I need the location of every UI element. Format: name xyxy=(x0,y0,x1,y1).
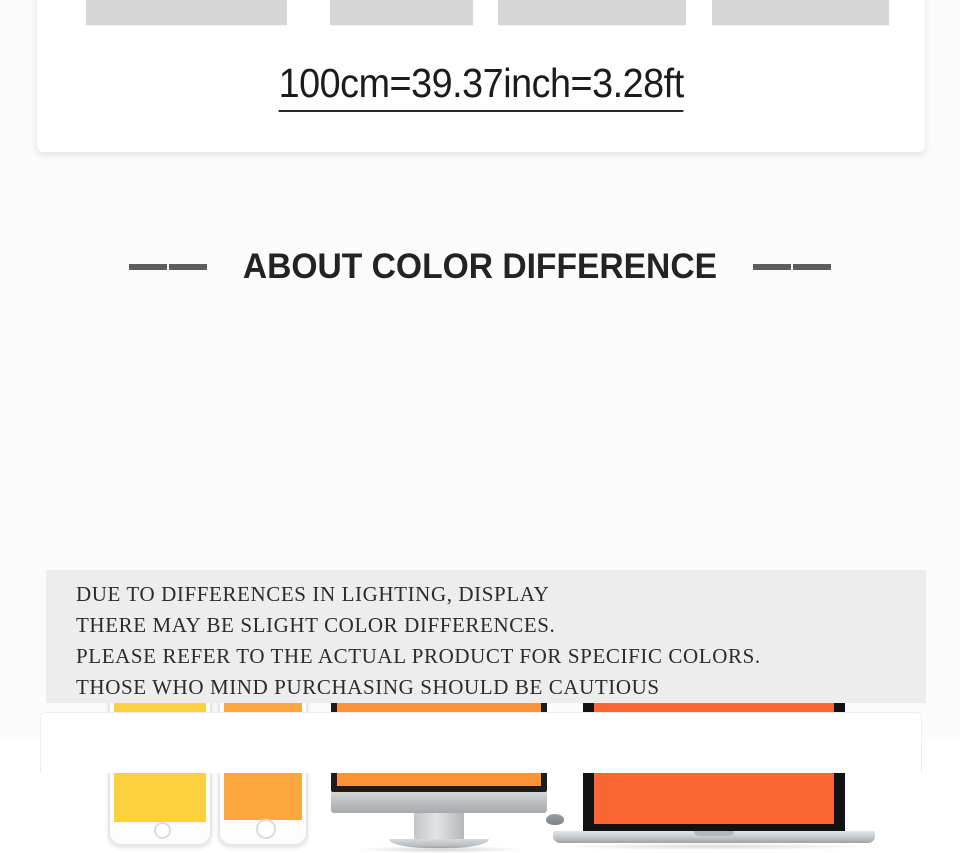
disclaimer-line-3: PLEASE REFER TO THE ACTUAL PRODUCT FOR S… xyxy=(76,641,926,672)
size-swatch-1 xyxy=(86,0,287,25)
monitor-shadow xyxy=(359,846,521,853)
watermark-ghost xyxy=(390,182,580,216)
size-swatch-3 xyxy=(498,0,686,25)
device-illustration-row xyxy=(0,320,960,545)
monitor-stand-neck xyxy=(414,813,464,841)
heading-rule-left-icon xyxy=(129,264,207,270)
monitor-chin xyxy=(331,792,547,813)
laptop-shadow xyxy=(561,843,867,850)
section-title: ABOUT COLOR DIFFERENCE xyxy=(243,247,717,287)
laptop-notch-icon xyxy=(694,831,734,836)
color-disclaimer-block: DUE TO DIFFERENCES IN LIGHTING, DISPLAY … xyxy=(46,570,926,703)
heading-rule-right-icon xyxy=(753,264,831,270)
disclaimer-line-1: DUE TO DIFFERENCES IN LIGHTING, DISPLAY xyxy=(76,579,926,610)
next-section-card xyxy=(40,712,922,773)
conversion-line: 100cm=39.37inch=3.28ft xyxy=(37,60,925,112)
section-heading: ABOUT COLOR DIFFERENCE xyxy=(0,240,960,294)
size-swatch-2 xyxy=(330,0,473,25)
size-swatch-4 xyxy=(712,0,889,25)
size-conversion-card: 100cm=39.37inch=3.28ft xyxy=(37,0,925,152)
size-swatch-row xyxy=(37,0,925,25)
phone-home-button-icon xyxy=(256,819,276,839)
phone-home-button-icon xyxy=(154,822,171,839)
disclaimer-line-2: THERE MAY BE SLIGHT COLOR DIFFERENCES. xyxy=(76,610,926,641)
unit-conversion-text: 100cm=39.37inch=3.28ft xyxy=(278,60,683,112)
disclaimer-line-4: THOSE WHO MIND PURCHASING SHOULD BE CAUT… xyxy=(76,672,926,703)
